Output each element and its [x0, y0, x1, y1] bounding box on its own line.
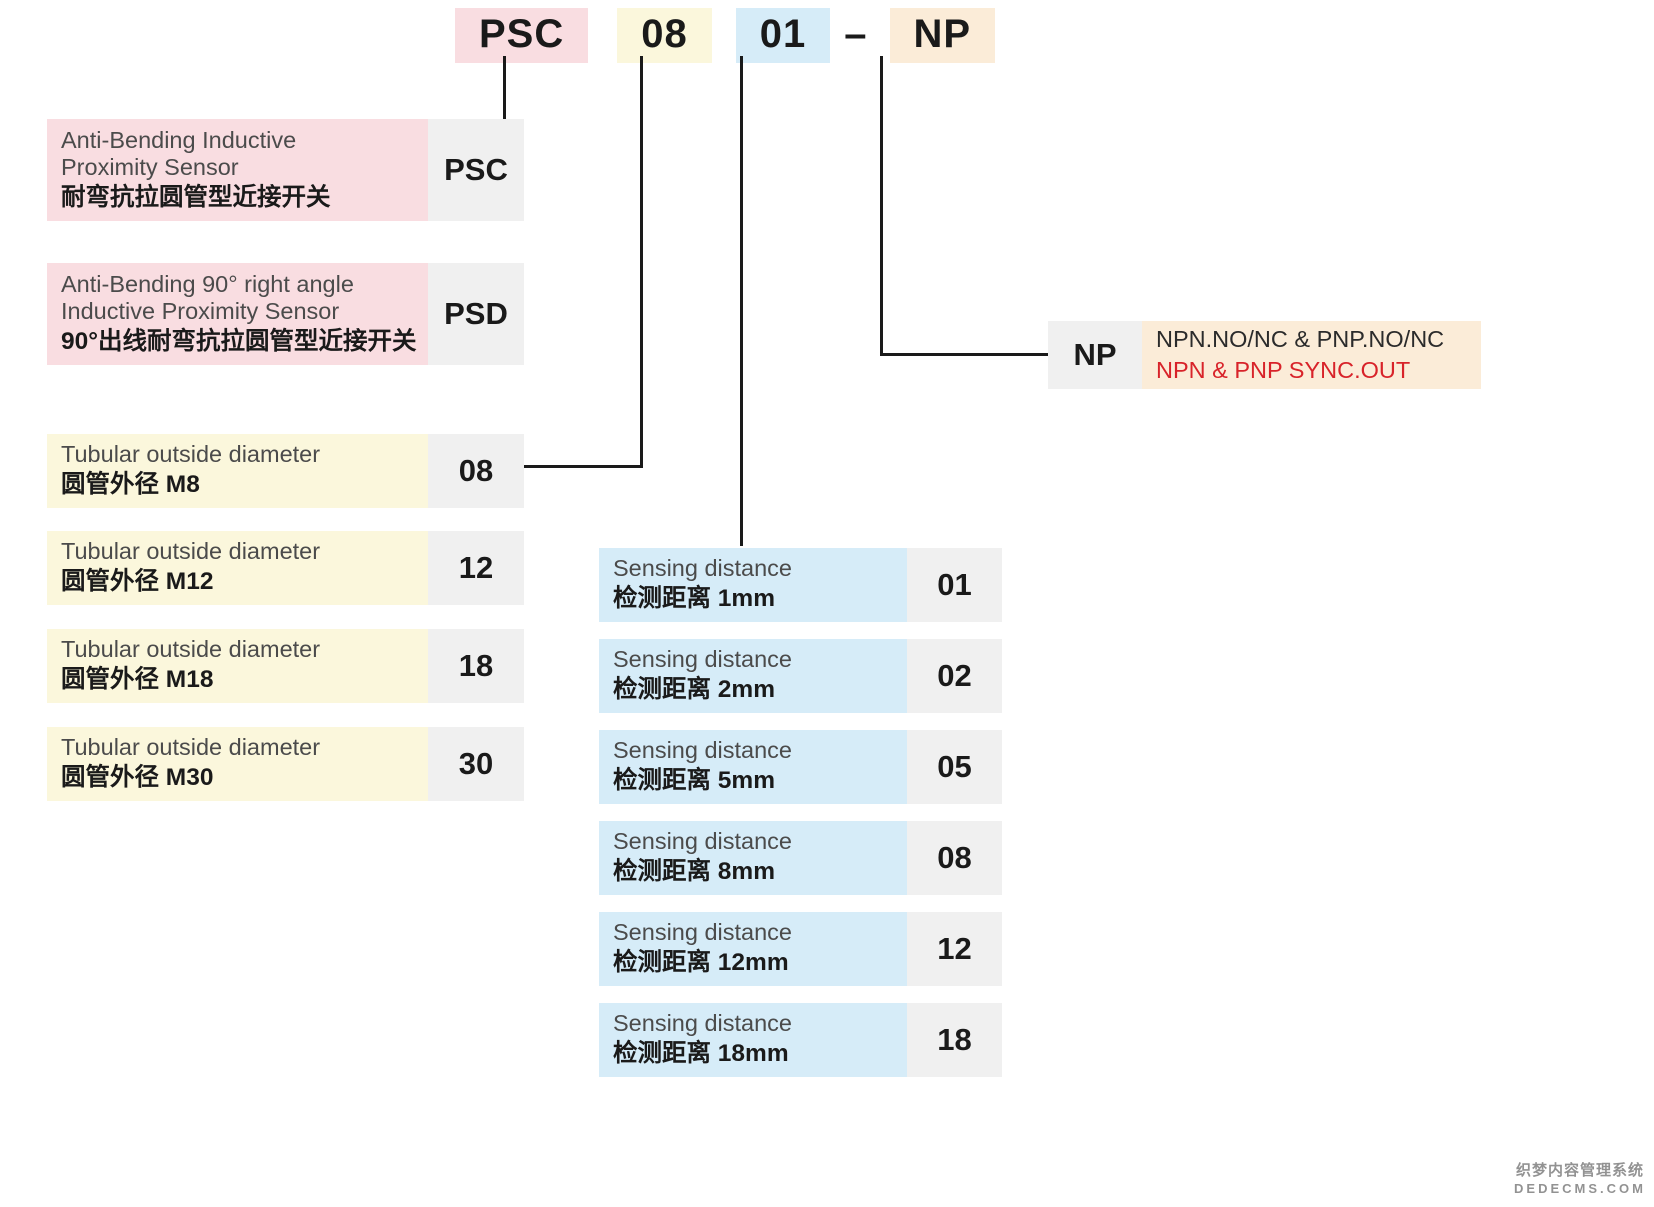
part-number-legend-diagram: PSC 08 01 – NP Anti-Bending Inductive Pr…: [0, 0, 1654, 1207]
sensor-type-label-en-line2: Proximity Sensor: [61, 154, 414, 182]
sensing-distance-label-en: Sensing distance: [613, 1010, 893, 1038]
legend-row-sensing-distance: Sensing distance 检测距离 5mm 05: [599, 730, 1002, 804]
sensing-distance-description: Sensing distance 检测距离 5mm: [599, 730, 907, 804]
sensing-distance-label-en: Sensing distance: [613, 737, 893, 765]
connector-line-output-vertical: [880, 56, 883, 355]
diameter-label-cn: 圆管外径 M12: [61, 567, 414, 596]
legend-row-sensing-distance: Sensing distance 检测距离 12mm 12: [599, 912, 1002, 986]
sensor-type-description: Anti-Bending Inductive Proximity Sensor …: [47, 119, 428, 221]
sensing-distance-label-cn: 检测距离 2mm: [613, 675, 893, 704]
sensing-distance-code: 18: [907, 1003, 1002, 1077]
watermark-text-cn: 织梦内容管理系统: [1514, 1162, 1646, 1181]
legend-row-diameter: Tubular outside diameter 圆管外径 M30 30: [47, 727, 524, 801]
code-segment-diameter: 08: [617, 8, 712, 63]
sensing-distance-label-en: Sensing distance: [613, 646, 893, 674]
sensing-distance-code: 08: [907, 821, 1002, 895]
legend-row-sensor-type: Anti-Bending Inductive Proximity Sensor …: [47, 119, 524, 221]
sensing-distance-code: 02: [907, 639, 1002, 713]
diameter-code: 18: [428, 629, 524, 703]
watermark: 织梦内容管理系统 DEDECMS.COM: [1514, 1162, 1646, 1197]
diameter-description: Tubular outside diameter 圆管外径 M18: [47, 629, 428, 703]
legend-row-diameter: Tubular outside diameter 圆管外径 M18 18: [47, 629, 524, 703]
sensing-distance-label-cn: 检测距离 8mm: [613, 857, 893, 886]
sensing-distance-description: Sensing distance 检测距离 2mm: [599, 639, 907, 713]
sensor-type-label-en-line2: Inductive Proximity Sensor: [61, 298, 414, 326]
code-segment-sensing-distance: 01: [736, 8, 831, 63]
diameter-label-en: Tubular outside diameter: [61, 538, 414, 566]
diameter-label-en: Tubular outside diameter: [61, 441, 414, 469]
connector-line-diameter-horizontal: [523, 465, 643, 468]
sensor-type-code: PSD: [428, 263, 524, 365]
sensing-distance-code: 12: [907, 912, 1002, 986]
sensing-distance-label-cn: 检测距离 5mm: [613, 766, 893, 795]
code-dash-separator: –: [830, 14, 880, 54]
sensing-distance-description: Sensing distance 检测距离 1mm: [599, 548, 907, 622]
connector-line-output-horizontal: [880, 353, 1050, 356]
sensing-distance-label-en: Sensing distance: [613, 828, 893, 856]
code-segment-output-type: NP: [890, 8, 996, 63]
diameter-label-cn: 圆管外径 M8: [61, 470, 414, 499]
diameter-label-cn: 圆管外径 M18: [61, 665, 414, 694]
diameter-code: 30: [428, 727, 524, 801]
legend-row-sensor-type: Anti-Bending 90° right angle Inductive P…: [47, 263, 524, 365]
diameter-description: Tubular outside diameter 圆管外径 M12: [47, 531, 428, 605]
output-type-label-sync: NPN & PNP SYNC.OUT: [1156, 356, 1481, 384]
connector-line-diameter-vertical: [640, 56, 643, 467]
legend-row-sensing-distance: Sensing distance 检测距离 1mm 01: [599, 548, 1002, 622]
diameter-code: 12: [428, 531, 524, 605]
code-segment-series: PSC: [455, 8, 588, 63]
sensor-type-description: Anti-Bending 90° right angle Inductive P…: [47, 263, 428, 365]
output-type-description: NPN.NO/NC & PNP.NO/NC NPN & PNP SYNC.OUT: [1142, 321, 1481, 389]
sensing-distance-label-en: Sensing distance: [613, 555, 893, 583]
sensing-distance-label-cn: 检测距离 12mm: [613, 948, 893, 977]
diameter-description: Tubular outside diameter 圆管外径 M8: [47, 434, 428, 508]
sensor-type-label-cn: 90°出线耐弯抗拉圆管型近接开关: [61, 327, 414, 356]
sensing-distance-label-en: Sensing distance: [613, 919, 893, 947]
diameter-description: Tubular outside diameter 圆管外径 M30: [47, 727, 428, 801]
sensing-distance-description: Sensing distance 检测距离 18mm: [599, 1003, 907, 1077]
sensing-distance-label-cn: 检测距离 18mm: [613, 1039, 893, 1068]
legend-row-output-type: NP NPN.NO/NC & PNP.NO/NC NPN & PNP SYNC.…: [1048, 321, 1481, 389]
legend-row-diameter: Tubular outside diameter 圆管外径 M8 08: [47, 434, 524, 508]
legend-row-sensing-distance: Sensing distance 检测距离 18mm 18: [599, 1003, 1002, 1077]
sensing-distance-description: Sensing distance 检测距离 8mm: [599, 821, 907, 895]
part-number-header: PSC 08 01 – NP: [455, 8, 995, 63]
connector-line-series: [503, 56, 506, 122]
output-type-code: NP: [1048, 321, 1142, 389]
output-type-label-primary: NPN.NO/NC & PNP.NO/NC: [1156, 325, 1481, 353]
sensing-distance-code: 01: [907, 548, 1002, 622]
connector-line-sensing-distance: [740, 56, 743, 546]
legend-row-sensing-distance: Sensing distance 检测距离 8mm 08: [599, 821, 1002, 895]
sensor-type-code: PSC: [428, 119, 524, 221]
legend-row-sensing-distance: Sensing distance 检测距离 2mm 02: [599, 639, 1002, 713]
sensing-distance-description: Sensing distance 检测距离 12mm: [599, 912, 907, 986]
sensor-type-label-en-line1: Anti-Bending 90° right angle: [61, 271, 414, 299]
diameter-label-en: Tubular outside diameter: [61, 636, 414, 664]
sensor-type-label-cn: 耐弯抗拉圆管型近接开关: [61, 183, 414, 212]
diameter-label-cn: 圆管外径 M30: [61, 763, 414, 792]
diameter-label-en: Tubular outside diameter: [61, 734, 414, 762]
sensing-distance-label-cn: 检测距离 1mm: [613, 584, 893, 613]
sensor-type-label-en-line1: Anti-Bending Inductive: [61, 127, 414, 155]
legend-row-diameter: Tubular outside diameter 圆管外径 M12 12: [47, 531, 524, 605]
watermark-text-en: DEDECMS.COM: [1514, 1181, 1646, 1197]
sensing-distance-code: 05: [907, 730, 1002, 804]
diameter-code: 08: [428, 434, 524, 508]
